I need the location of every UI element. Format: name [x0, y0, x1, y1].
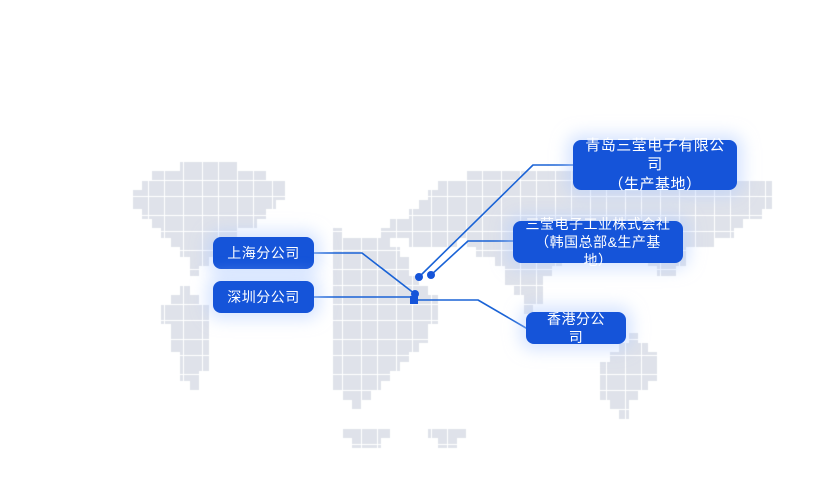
label-hongkong[interactable]: 香港分公司 [526, 312, 626, 344]
connector-shanghai [314, 253, 415, 294]
label-korea-hq[interactable]: 三莹电子工业株式会社 （韩国总部&生产基地） [513, 221, 683, 263]
qingdao-marker[interactable] [415, 273, 423, 281]
shenzhen-marker[interactable] [410, 296, 418, 304]
connector-lines-layer [0, 0, 824, 480]
label-shenzhen[interactable]: 深圳分公司 [213, 281, 314, 313]
label-qingdao[interactable]: 青岛三莹电子有限公司 （生产基地） [573, 140, 737, 190]
connector-hongkong [414, 300, 526, 328]
korea-marker[interactable] [427, 271, 435, 279]
world-map-diagram: 青岛三莹电子有限公司 （生产基地） 三莹电子工业株式会社 （韩国总部&生产基地）… [0, 0, 824, 480]
label-shanghai[interactable]: 上海分公司 [213, 237, 314, 269]
connector-korea [431, 241, 513, 275]
